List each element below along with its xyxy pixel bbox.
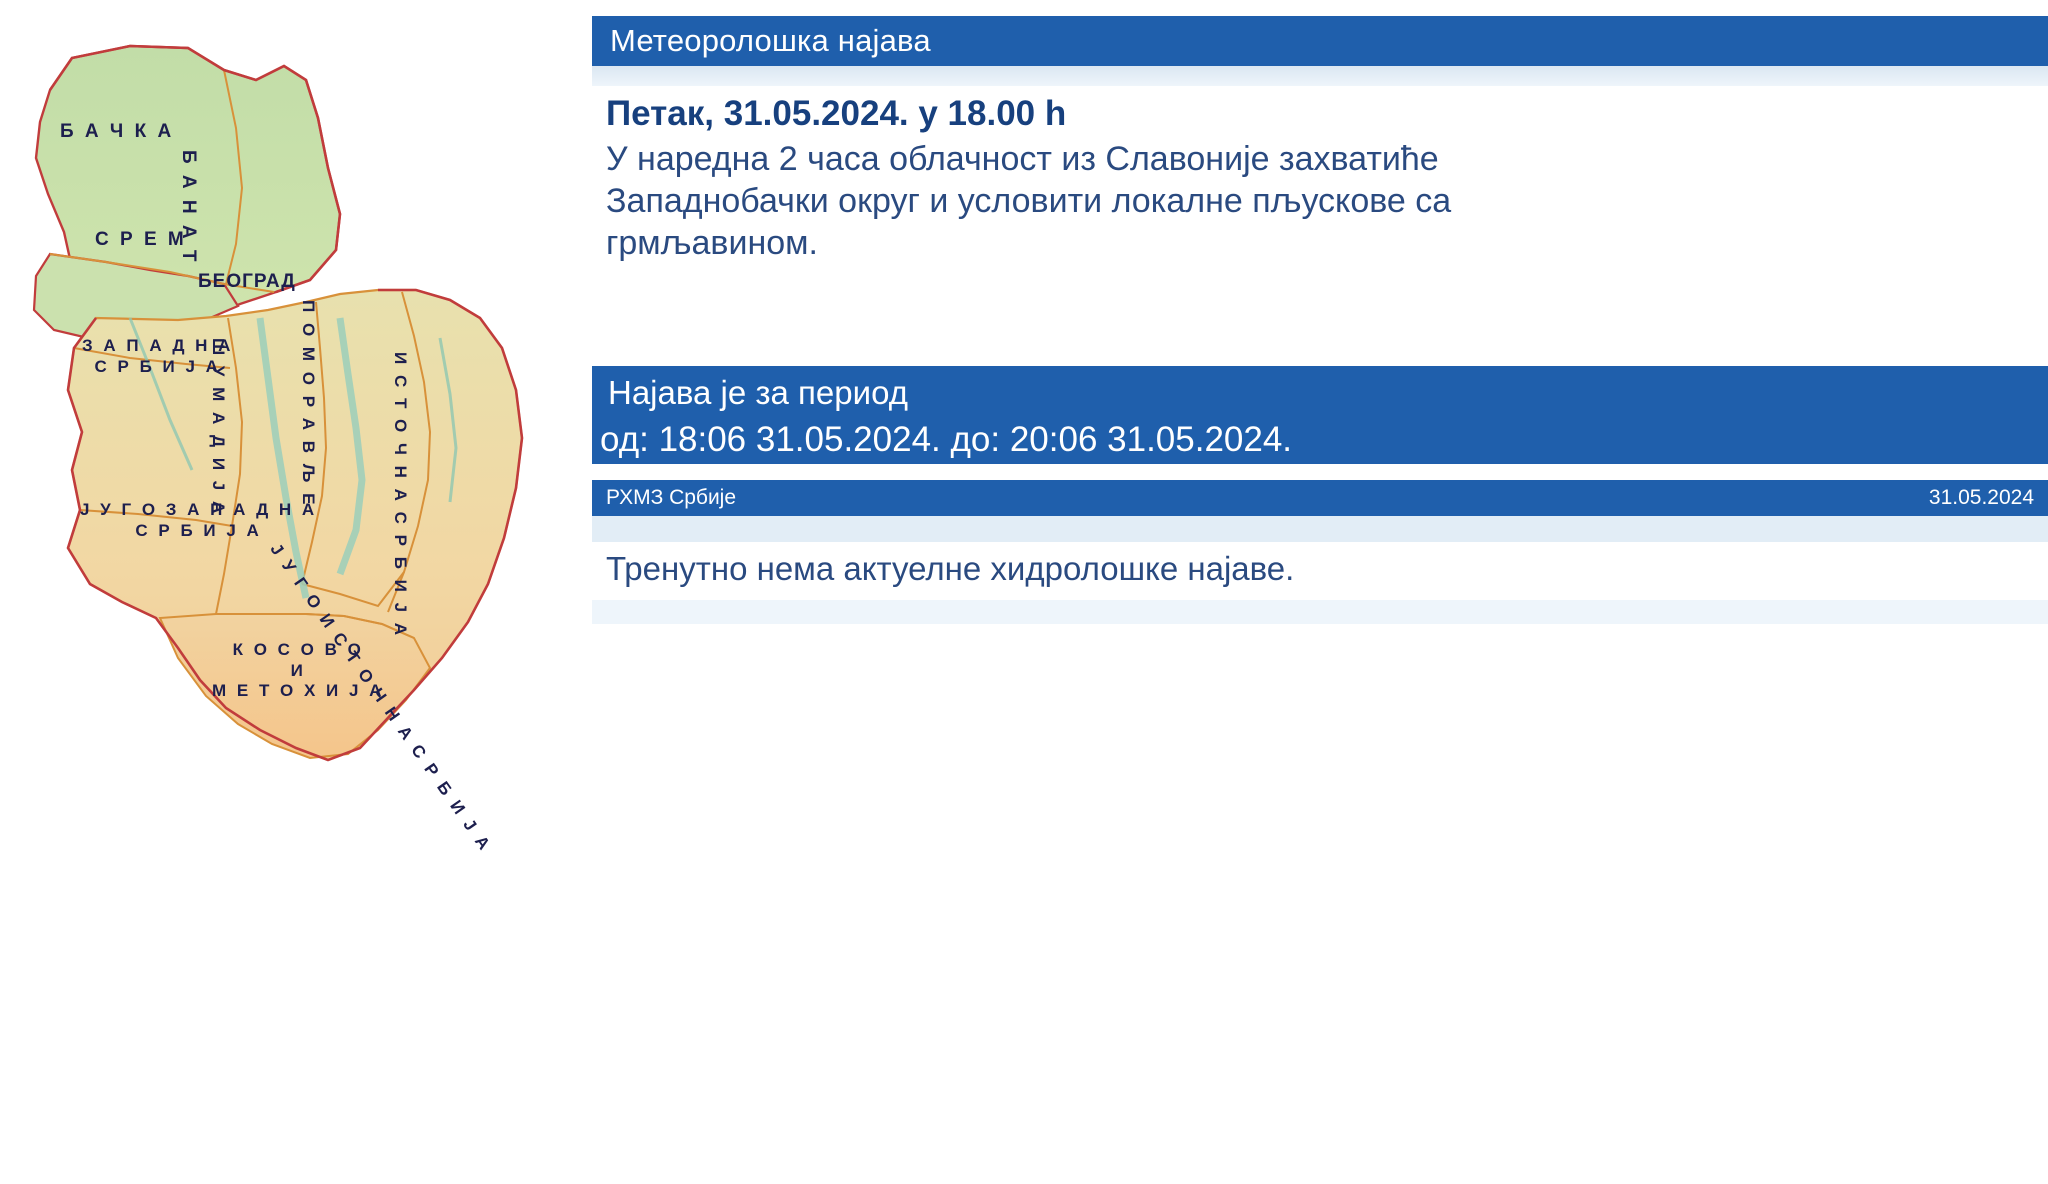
period-title: Најава је за период [600,370,2048,416]
announcement-headline: Петак, 31.05.2024. у 18.00 h [606,92,2026,136]
meteo-header-bar: Метеоролошка најава [592,16,2048,66]
source-date: 31.05.2024 [1929,486,2034,510]
announcement-period-block: Најава је за период од: 18:06 31.05.2024… [592,366,2048,464]
map-region-south [160,614,430,758]
serbia-map-svg [10,18,570,808]
hydrology-bottom-strip [592,600,2048,624]
announcement-body: У наредна 2 часа облачност из Славоније … [606,138,2026,264]
serbia-map: Б А Ч К А Б А Н А Т С Р Е М БЕОГРАД З А … [0,0,580,1184]
hydrology-top-strip [592,516,2048,542]
header-underline-strip [592,66,2048,86]
announcement-body-line1: У наредна 2 часа облачност из Славоније … [606,138,2026,180]
announcement-body-line2: Западнобачки округ и условити локалне пљ… [606,180,2026,222]
announcement-panel: Метеоролошка најава Петак, 31.05.2024. у… [592,0,2048,1184]
page-root: Б А Ч К А Б А Н А Т С Р Е М БЕОГРАД З А … [0,0,2048,1184]
source-name: РХМЗ Србије [606,486,736,510]
source-bar: РХМЗ Србије 31.05.2024 [592,480,2048,516]
hydrology-message: Тренутно нема актуелне хидролошке најаве… [606,548,2026,590]
announcement-body-line3: грмљавином. [606,222,2026,264]
period-range: од: 18:06 31.05.2024. до: 20:06 31.05.20… [600,416,2048,464]
